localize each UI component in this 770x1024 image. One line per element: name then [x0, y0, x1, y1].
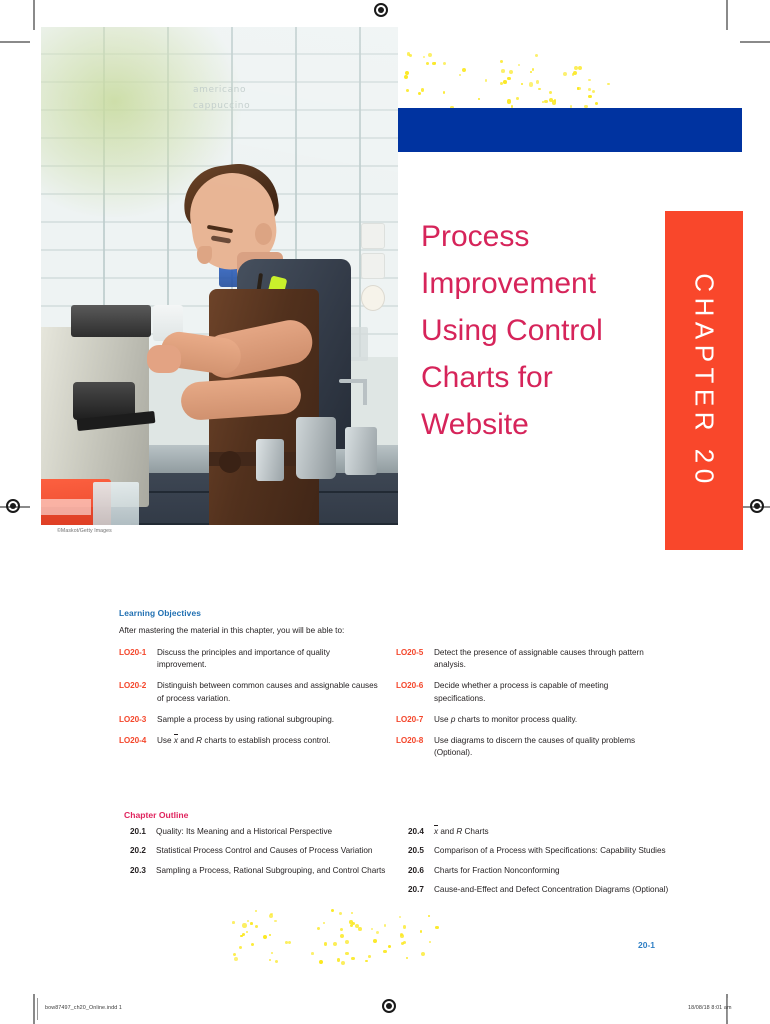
decorative-dot: [269, 934, 271, 936]
red-cup-stack-band: [41, 499, 91, 515]
learning-objective-text: Use diagrams to discern the causes of qu…: [434, 735, 658, 759]
learning-objective-text: Discuss the principles and importance of…: [157, 647, 381, 671]
decorative-dot: [409, 54, 412, 57]
decorative-dot: [549, 91, 552, 94]
decorative-dot: [233, 953, 236, 956]
decorative-dot: [340, 928, 343, 931]
decorative-dot: [399, 916, 401, 918]
chapter-outline-item: 20.5Comparison of a Process with Specifi…: [408, 845, 670, 857]
chapter-outline-number: 20.2: [130, 845, 156, 857]
decorative-dot: [351, 957, 354, 960]
decorative-dot: [509, 70, 513, 74]
decorative-dot: [588, 79, 591, 82]
decorative-dot: [507, 99, 511, 103]
decorative-dot: [501, 69, 505, 73]
learning-objective-text: Sample a process by using rational subgr…: [157, 714, 334, 726]
learning-objective-tag: LO20-5: [396, 647, 434, 671]
footer-timestamp: 18/08/18 8:01 am: [688, 1005, 732, 1011]
decorative-dot: [274, 920, 276, 922]
decorative-dot: [536, 80, 539, 83]
decorative-dot: [432, 62, 436, 66]
barista-ear: [255, 223, 272, 245]
decorative-dot: [324, 942, 328, 946]
learning-objectives-right-column: LO20-5Detect the presence of assignable …: [396, 647, 658, 768]
decorative-dot: [428, 53, 432, 57]
decorative-dot: [365, 960, 368, 963]
decorative-dot: [607, 83, 610, 86]
decorative-dot: [288, 941, 291, 944]
crop-mark-top-left-horizontal: [0, 41, 30, 43]
chapter-outline-number: 20.1: [130, 826, 156, 838]
learning-objective-tag: LO20-8: [396, 735, 434, 759]
learning-objectives-heading: Learning Objectives: [119, 608, 201, 618]
decorative-dot: [500, 60, 504, 64]
decorative-dot: [443, 62, 446, 65]
learning-objective-item: LO20-1Discuss the principles and importa…: [119, 647, 381, 671]
learning-objective-item: LO20-5Detect the presence of assignable …: [396, 647, 658, 671]
decorative-dot: [426, 62, 429, 65]
learning-objective-item: LO20-6Decide whether a process is capabl…: [396, 680, 658, 704]
kettle: [296, 417, 336, 479]
chapter-outline-number: 20.3: [130, 865, 156, 877]
decorative-dot: [423, 56, 425, 58]
chapter-outline-item: 20.6Charts for Fraction Nonconforming: [408, 865, 670, 877]
decorative-dot: [418, 92, 421, 95]
barista-hand: [147, 345, 181, 373]
footer-rule-left: [37, 998, 38, 1020]
decorative-dot: [459, 74, 462, 77]
apron-knot: [219, 451, 241, 473]
chapter-outline-item: 20.2Statistical Process Control and Caus…: [130, 845, 392, 857]
decorative-dot: [503, 80, 507, 84]
chapter-outline-text: x and R Charts: [434, 826, 489, 838]
learning-objective-text: Use p charts to monitor process quality.: [434, 714, 577, 726]
decorative-dot: [263, 935, 267, 939]
footer-file-slug: bow87497_ch20_Online.indd 1: [45, 1005, 122, 1011]
decorative-dot: [246, 931, 248, 933]
decorative-dot: [518, 64, 520, 66]
decorative-dot: [351, 912, 353, 914]
decorative-dot: [255, 910, 257, 912]
learning-objectives-intro: After mastering the material in this cha…: [119, 626, 344, 635]
decorative-dot: [401, 942, 404, 945]
decorative-dot: [485, 79, 488, 82]
glassware: [93, 482, 139, 525]
decorative-dot: [339, 912, 342, 915]
barista-nose: [197, 246, 212, 264]
decorative-dot: [592, 90, 595, 93]
chapter-outline-text: Sampling a Process, Rational Subgrouping…: [156, 865, 385, 877]
learning-objective-item: LO20-7Use p charts to monitor process qu…: [396, 714, 658, 726]
decorative-dot: [478, 98, 480, 100]
decorative-dot-field-top: [400, 52, 610, 114]
decorative-dot: [345, 952, 349, 956]
decorative-dot: [255, 925, 258, 928]
learning-objective-text: Detect the presence of assignable causes…: [434, 647, 658, 671]
decorative-dot: [535, 54, 538, 57]
decorative-dot: [578, 66, 582, 70]
decorative-dot: [588, 88, 591, 91]
decorative-dot: [317, 927, 320, 930]
decorative-dot: [577, 87, 580, 90]
decorative-dot: [269, 959, 271, 961]
decorative-dot: [345, 940, 349, 944]
decorative-dot: [573, 71, 577, 75]
decorative-dot: [406, 957, 408, 959]
learning-objective-item: LO20-3Sample a process by using rational…: [119, 714, 381, 726]
decorative-dot: [443, 91, 446, 94]
decorative-dot: [529, 82, 534, 87]
crop-mark-top-right-vertical: [726, 0, 728, 30]
title-line-2: Improvement: [421, 260, 669, 307]
decorative-dot: [552, 100, 557, 105]
decorative-dot: [521, 83, 523, 85]
title-line-3: Using Control: [421, 307, 669, 354]
decorative-dot: [247, 920, 250, 923]
decorative-dot: [572, 73, 574, 75]
page-number: 20-1: [638, 940, 655, 950]
decorative-dot: [340, 934, 344, 938]
learning-objective-tag: LO20-4: [119, 735, 157, 747]
decorative-dot: [400, 933, 403, 936]
chapter-outline-item: 20.3Sampling a Process, Rational Subgrou…: [130, 865, 392, 877]
decorative-dot: [404, 75, 408, 79]
decorative-dot: [333, 942, 337, 946]
title-line-5: Website: [421, 401, 669, 448]
decorative-dot: [595, 102, 598, 105]
title-line-4: Charts for: [421, 354, 669, 401]
learning-objective-text: Distinguish between common causes and as…: [157, 680, 381, 704]
chapter-opener-photo: americano cappuccino: [41, 27, 398, 525]
decorative-dot: [341, 961, 345, 965]
crop-mark-top-right-horizontal: [740, 41, 770, 43]
chapter-outline-text: Statistical Process Control and Causes o…: [156, 845, 372, 857]
chapter-outline-item: 20.4x and R Charts: [408, 826, 670, 838]
decorative-dot: [384, 924, 386, 926]
decorative-dot: [383, 950, 386, 953]
learning-objective-item: LO20-4Use x and R charts to establish pr…: [119, 735, 381, 747]
decorative-dot: [251, 943, 254, 946]
chalk-menu-text: americano cappuccino: [193, 82, 250, 114]
espresso-grinder-top: [71, 305, 151, 337]
faucet-stem: [363, 379, 367, 405]
chapter-outline-text: Quality: Its Meaning and a Historical Pe…: [156, 826, 332, 838]
decorative-dot: [275, 960, 279, 964]
learning-objectives-left-column: LO20-1Discuss the principles and importa…: [119, 647, 381, 756]
decorative-dot: [538, 88, 541, 91]
learning-objective-item: LO20-8Use diagrams to discern the causes…: [396, 735, 658, 759]
decorative-dot: [358, 927, 362, 931]
decorative-dot: [337, 958, 341, 962]
crop-mark-top-left-vertical: [33, 0, 35, 30]
chapter-tab-label: CHAPTER 20: [689, 273, 720, 488]
learning-objective-tag: LO20-1: [119, 647, 157, 671]
registration-mark-top: [373, 2, 389, 18]
chapter-outline-number: 20.4: [408, 826, 434, 838]
chapter-number-tab: CHAPTER 20: [665, 211, 743, 550]
learning-objective-tag: LO20-6: [396, 680, 434, 704]
barista-photo-illustration: americano cappuccino: [41, 27, 398, 525]
decorative-dot: [435, 926, 439, 930]
decorative-dot: [421, 952, 425, 956]
decorative-dot: [420, 930, 423, 933]
decorative-dot: [532, 68, 534, 70]
wall-socket-2: [361, 253, 385, 279]
decorative-dot: [311, 952, 314, 955]
chapter-outline-item: 20.7Cause-and-Effect and Defect Concentr…: [408, 884, 670, 896]
milk-jug-1: [256, 439, 284, 481]
chapter-outline-right-column: 20.4x and R Charts20.5Comparison of a Pr…: [408, 826, 670, 904]
learning-objective-item: LO20-2Distinguish between common causes …: [119, 680, 381, 704]
decorative-dot: [588, 95, 592, 99]
learning-objective-tag: LO20-7: [396, 714, 434, 726]
wall-socket-3: [361, 285, 385, 311]
chapter-outline-number: 20.7: [408, 884, 434, 896]
photo-credit: ©Maskot/Getty Images: [57, 528, 112, 534]
decorative-dot: [563, 72, 567, 76]
decorative-dot: [388, 945, 391, 948]
decorative-dot: [250, 922, 253, 925]
page-title: Process Improvement Using Control Charts…: [421, 213, 669, 448]
learning-objective-tag: LO20-3: [119, 714, 157, 726]
decorative-dot: [368, 955, 371, 958]
decorative-dot: [507, 77, 511, 81]
learning-objective-text: Use x and R charts to establish process …: [157, 735, 330, 747]
decorative-dot: [544, 100, 548, 104]
decorative-dot: [530, 71, 532, 73]
title-line-1: Process: [421, 213, 669, 260]
chapter-outline-text: Cause-and-Effect and Defect Concentratio…: [434, 884, 668, 896]
decorative-dot: [429, 941, 431, 943]
chapter-outline-heading: Chapter Outline: [124, 810, 188, 820]
decorative-dot: [240, 935, 243, 938]
decorative-dot: [234, 957, 238, 961]
chapter-outline-text: Charts for Fraction Nonconforming: [434, 865, 560, 877]
decorative-dot: [319, 960, 323, 964]
chapter-outline-left-column: 20.1Quality: Its Meaning and a Historica…: [130, 826, 392, 884]
decorative-dot: [232, 921, 235, 924]
chapter-outline-item: 20.1Quality: Its Meaning and a Historica…: [130, 826, 392, 838]
registration-mark-bottom: [381, 998, 397, 1014]
chapter-outline-number: 20.6: [408, 865, 434, 877]
chapter-outline-text: Comparison of a Process with Specificati…: [434, 845, 666, 857]
learning-objective-text: Decide whether a process is capable of m…: [434, 680, 658, 704]
decorative-dot: [323, 922, 326, 925]
decorative-dot: [331, 909, 334, 912]
decorative-dot: [271, 952, 273, 954]
registration-mark-right: [749, 498, 765, 514]
milk-jug-2: [345, 427, 377, 475]
decorative-dot: [405, 71, 409, 75]
decorative-dot-field-bottom: [230, 908, 445, 966]
decorative-dot: [516, 97, 519, 100]
learning-objective-tag: LO20-2: [119, 680, 157, 704]
decorative-dot: [371, 928, 373, 930]
decorative-dot: [242, 923, 247, 928]
decorative-dot: [421, 88, 425, 92]
decorative-dot: [462, 68, 466, 72]
decorative-dot: [406, 89, 409, 92]
crop-mark-bottom-left-vertical: [33, 994, 35, 1024]
blue-accent-bar: [398, 108, 742, 152]
registration-mark-left: [5, 498, 21, 514]
decorative-dot: [403, 925, 406, 928]
decorative-dot: [428, 915, 430, 917]
decorative-dot: [239, 946, 242, 949]
chapter-outline-number: 20.5: [408, 845, 434, 857]
decorative-dot: [376, 931, 379, 934]
decorative-dot: [373, 939, 377, 943]
wall-socket-1: [361, 223, 385, 249]
